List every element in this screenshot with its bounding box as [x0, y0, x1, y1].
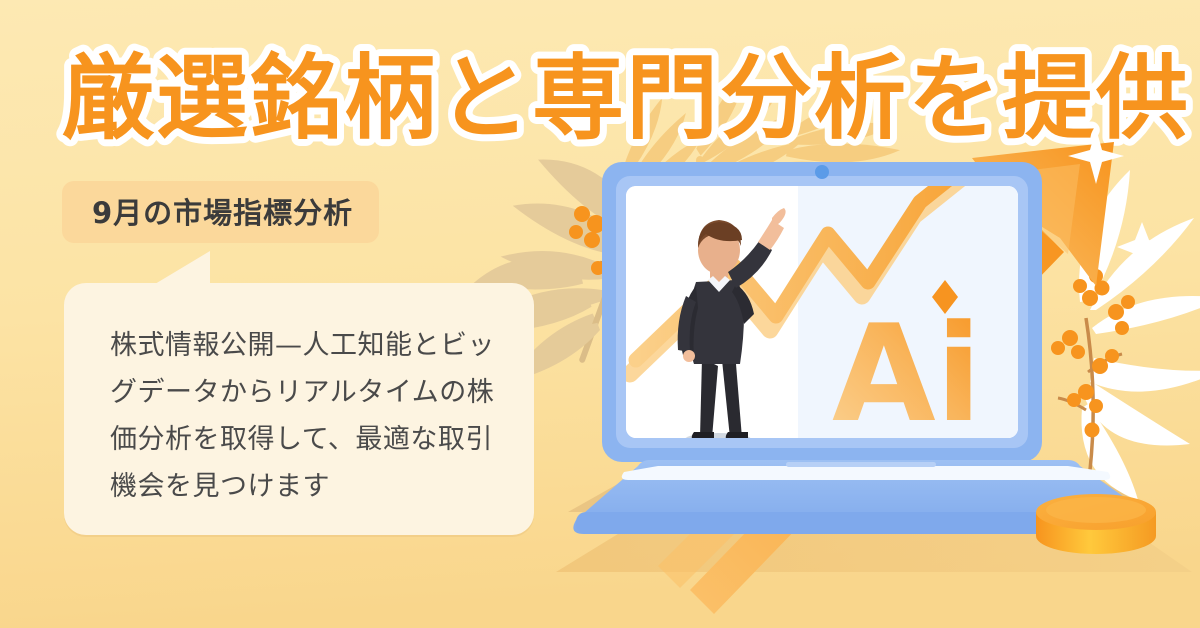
gold-coin [1036, 494, 1156, 554]
ai-wordmark: Ai [832, 280, 982, 452]
banner-canvas: 厳選銘柄と専門分析を提供 9月の市場指標分析 株式情報公開—人工知能とビッグデー… [0, 0, 1200, 628]
keyboard-area [622, 466, 1111, 480]
laptop-illustration: Ai [540, 120, 1200, 628]
bubble-description: 株式情報公開—人工知能とビッグデータからリアルタイムの株価分析を取得して、最適な… [110, 322, 520, 510]
bubble-tail [150, 251, 210, 287]
webcam-dot [815, 165, 829, 179]
status-badge: 9月の市場指標分析 [62, 181, 379, 243]
svg-text:Ai: Ai [832, 296, 982, 452]
